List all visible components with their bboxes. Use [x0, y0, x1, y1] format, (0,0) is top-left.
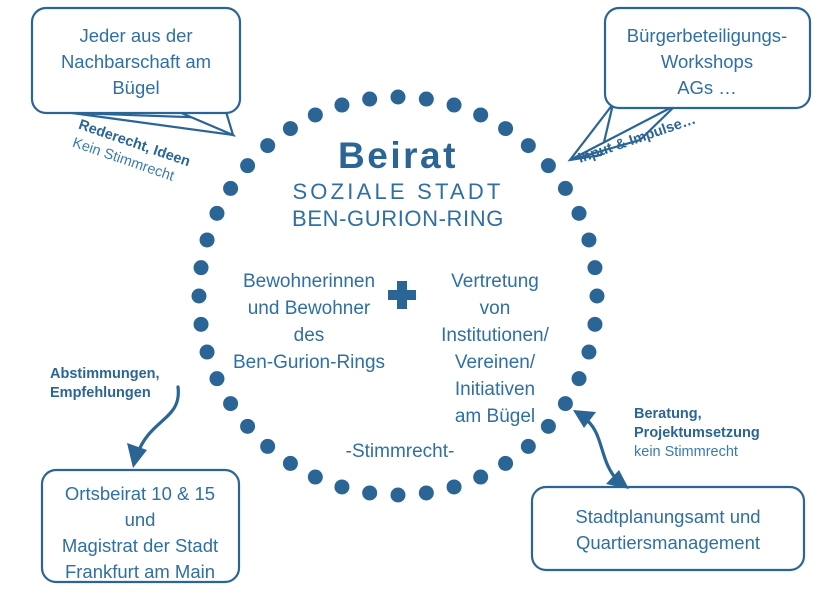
ring-dot — [391, 90, 406, 105]
ring-dot — [362, 92, 377, 107]
ring-dot — [308, 470, 323, 485]
center-right-line-1: Vertretung — [451, 271, 539, 292]
ring-dot — [334, 479, 349, 494]
diagram-canvas: Jeder aus der Nachbarschaft am Bügel Bür… — [0, 0, 820, 600]
center-left-line-3: des — [294, 325, 325, 346]
center-left-line-2: und Bewohner — [248, 298, 371, 319]
arrow-label-beratung-2: Projektumsetzung — [634, 425, 760, 441]
ring-dot — [587, 317, 602, 332]
box-ortsbeirat-line-3: Magistrat der Stadt — [62, 535, 218, 556]
box-stadtplanungsamt-line-1: Stadtplanungsamt und — [575, 506, 760, 527]
ring-dot — [498, 121, 513, 136]
arrow-label-abstimmungen-1: Abstimmungen, — [50, 366, 160, 382]
diagram-title-sub1: SOZIALE STADT — [292, 179, 503, 204]
arrow-label-abstimmungen-2: Empfehlungen — [50, 385, 151, 401]
center-right-line-3: Institutionen/ — [441, 325, 549, 346]
ring-dot — [581, 232, 596, 247]
ring-dot — [587, 260, 602, 275]
box-ortsbeirat-line-1: Ortsbeirat 10 & 15 — [65, 483, 215, 504]
ring-dot — [419, 485, 434, 500]
ring-dot — [200, 232, 215, 247]
ring-dot — [473, 470, 488, 485]
diagram-svg: Jeder aus der Nachbarschaft am Bügel Bür… — [0, 0, 820, 600]
center-left-line-4: Ben-Gurion-Rings — [233, 352, 385, 373]
ring-dot — [209, 371, 224, 386]
arrow-beratung-line — [583, 417, 618, 481]
ring-dot — [572, 206, 587, 221]
bubble-neighbourhood-line-2: Nachbarschaft am — [61, 51, 211, 72]
center-right-line-6: am Bügel — [455, 406, 535, 427]
ring-dot — [391, 488, 406, 503]
ring-dot — [541, 419, 556, 434]
ring-dot — [194, 317, 209, 332]
arrow-abstimmungen-head — [127, 443, 147, 468]
diagram-title-main: Beirat — [338, 135, 458, 176]
ring-dot — [209, 206, 224, 221]
center-right-line-4: Vereinen/ — [455, 352, 536, 373]
box-ortsbeirat-line-4: Frankfurt am Main — [65, 561, 215, 582]
ring-dot — [521, 138, 536, 153]
ring-dot — [283, 456, 298, 471]
box-ortsbeirat-line-2: und — [125, 509, 156, 530]
ring-dot — [473, 107, 488, 122]
ring-dot — [590, 289, 605, 304]
ring-dot — [334, 98, 349, 113]
arrow-label-beratung-3: kein Stimmrecht — [634, 444, 738, 460]
box-stadtplanungsamt[interactable] — [532, 487, 804, 570]
ring-dot — [558, 181, 573, 196]
ring-dot — [194, 260, 209, 275]
center-footer-stimmrecht: -Stimmrecht- — [346, 441, 455, 462]
center-left-line-1: Bewohnerinnen — [243, 271, 375, 292]
box-stadtplanungsamt-line-2: Quartiersmanagement — [576, 532, 760, 553]
ring-dot — [283, 121, 298, 136]
ring-dot — [572, 371, 587, 386]
bubble-participation-line-2: Workshops — [661, 51, 753, 72]
ring-dot — [498, 456, 513, 471]
bubble-participation-line-3: AGs … — [677, 77, 737, 98]
ring-dot — [362, 485, 377, 500]
arrow-label-beratung-1: Beratung, — [634, 406, 702, 422]
ring-dot — [447, 98, 462, 113]
ring-dot — [223, 181, 238, 196]
ring-dot — [541, 158, 556, 173]
center-right-line-5: Initiativen — [455, 379, 535, 400]
ring-dot — [240, 158, 255, 173]
plus-icon — [388, 281, 416, 309]
diagram-title-sub2: BEN-GURION-RING — [292, 206, 504, 231]
ring-dot — [240, 419, 255, 434]
ring-dot — [308, 107, 323, 122]
ring-dot — [260, 439, 275, 454]
ring-dot — [521, 439, 536, 454]
ring-dot — [558, 396, 573, 411]
center-right-line-2: von — [480, 298, 511, 319]
ring-dot — [200, 345, 215, 360]
bubble-neighbourhood-line-1: Jeder aus der — [79, 25, 192, 46]
ring-dot — [223, 396, 238, 411]
ring-dot — [260, 138, 275, 153]
ring-dot — [419, 92, 434, 107]
ring-dot — [447, 479, 462, 494]
bubble-participation-line-1: Bürgerbeteiligungs- — [627, 25, 787, 46]
bubble-neighbourhood-line-3: Bügel — [112, 77, 159, 98]
ring-dot — [581, 345, 596, 360]
ring-dot — [192, 289, 207, 304]
